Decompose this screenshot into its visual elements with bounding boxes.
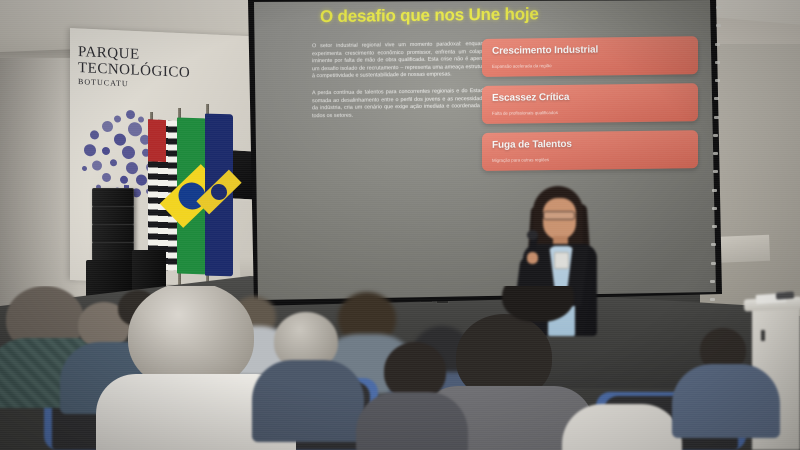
slide-card: Crescimento Industrial Expansão acelerad… [482,36,698,77]
audience-shoulders [252,360,364,442]
venue-sign-text: PARQUE TECNOLÓGICO BOTUCATU [78,45,208,94]
microphone-head [527,230,538,240]
slide-paragraph-1: O setor industrial regional vive um mome… [312,41,488,81]
slide-card-subtitle: Expansão acelerada da região [492,61,688,69]
presenter-badge [554,252,569,269]
slide-card-title: Crescimento Industrial [492,43,688,57]
line-array-speaker-module [92,206,134,225]
slide-paragraph-2: A perda contínua de talentos para concor… [312,88,488,121]
presentation-slide: O desafio que nos Une hoje O setor indus… [254,0,716,300]
slide-body-text: O setor industrial regional vive um mome… [312,41,488,130]
institutional-blue-flag [205,114,233,277]
presenter-glasses-icon [543,211,575,220]
projection-screen: O desafio que nos Une hoje O setor indus… [254,0,716,300]
slide-card-subtitle: Migração para outras regiões [492,155,688,163]
slide-title: O desafio que nos Une hoje [320,3,630,27]
presentation-photo: PARQUE TECNOLÓGICO BOTUCATU [0,0,800,450]
slide-card-subtitle: Falta de profissionais qualificados [492,108,688,116]
presenter-hand [527,252,538,264]
slide-card: Fuga de Talentos Migração para outras re… [482,130,698,171]
audience-shoulders [672,364,780,438]
slide-card: Escassez Crítica Falta de profissionais … [482,83,698,124]
audience-shoulders [562,404,682,450]
audience-shoulders [356,392,468,450]
slide-card-title: Fuga de Talentos [492,137,688,151]
line-array-speaker-module [92,242,134,261]
audience [0,286,800,450]
left-wall-shadow [0,58,80,308]
line-array-speaker-module [92,224,134,243]
line-array-speaker-module [92,188,134,207]
slide-card-title: Escassez Crítica [492,90,688,104]
audience-head [502,286,574,322]
slide-cards-column: Crescimento Industrial Expansão acelerad… [482,36,698,180]
